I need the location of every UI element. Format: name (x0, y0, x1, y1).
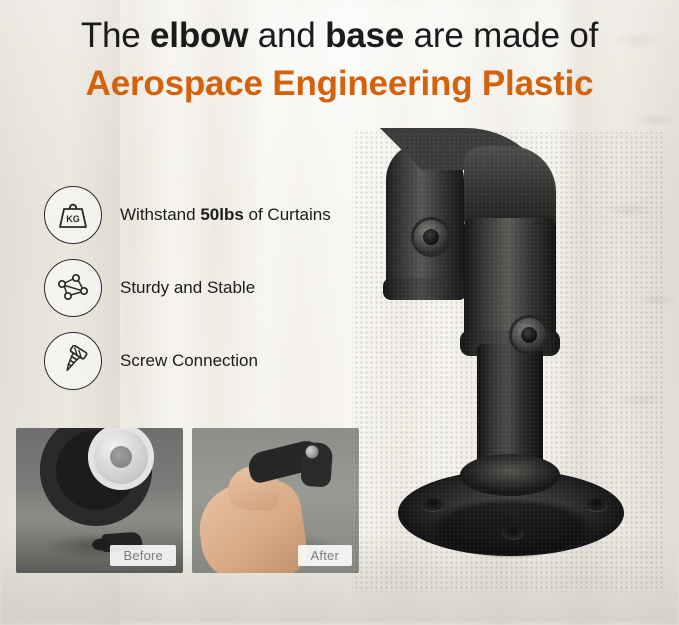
after-photo: After (192, 428, 359, 573)
product-bolt-upper (414, 220, 448, 254)
product-bolt-lower (512, 318, 546, 352)
before-after-gallery: Before After (16, 428, 359, 573)
feature-list: KG Withstand 50lbs of Curtains Sturdy an… (44, 184, 384, 403)
feature-weight-value: 50lbs (200, 205, 243, 224)
feature-item-screw: Screw Connection (44, 330, 384, 392)
screw-icon (44, 332, 102, 390)
headline-bold-base: base (325, 16, 404, 55)
wheel-rim (88, 428, 154, 490)
feature-item-sturdy: Sturdy and Stable (44, 257, 384, 319)
feature-text-screw: Screw Connection (120, 351, 258, 371)
headline-block: The elbow and base are made of Aerospace… (0, 18, 679, 103)
sturdy-structure-icon (44, 259, 102, 317)
feature-item-weight: KG Withstand 50lbs of Curtains (44, 184, 384, 246)
headline-line-2: Aerospace Engineering Plastic (0, 66, 679, 103)
after-door-stopper (245, 437, 326, 484)
feature-weight-suffix: of Curtains (244, 205, 331, 224)
weight-icon-label: KG (66, 214, 80, 224)
feature-weight-prefix: Withstand (120, 205, 200, 224)
base-screw-hole (502, 526, 524, 539)
base-screw-hole (422, 498, 444, 511)
product-base-collar (460, 454, 560, 496)
product-hero-image (352, 132, 664, 592)
headline-bold-elbow: elbow (150, 16, 248, 55)
headline-text-1: The (81, 16, 150, 55)
weight-kg-icon: KG (44, 186, 102, 244)
headline-line-1: The elbow and base are made of (0, 18, 679, 55)
feature-text-weight: Withstand 50lbs of Curtains (120, 205, 331, 225)
after-label: After (298, 545, 352, 566)
hand-holding-product (194, 476, 310, 573)
car-tire (40, 428, 152, 526)
base-screw-hole (586, 498, 608, 511)
before-photo: Before (16, 428, 183, 573)
feature-text-sturdy: Sturdy and Stable (120, 278, 255, 298)
headline-text-2: and (248, 16, 325, 55)
product-infographic: The elbow and base are made of Aerospace… (0, 0, 679, 625)
headline-text-3: are made of (404, 16, 598, 55)
before-label: Before (110, 545, 176, 566)
